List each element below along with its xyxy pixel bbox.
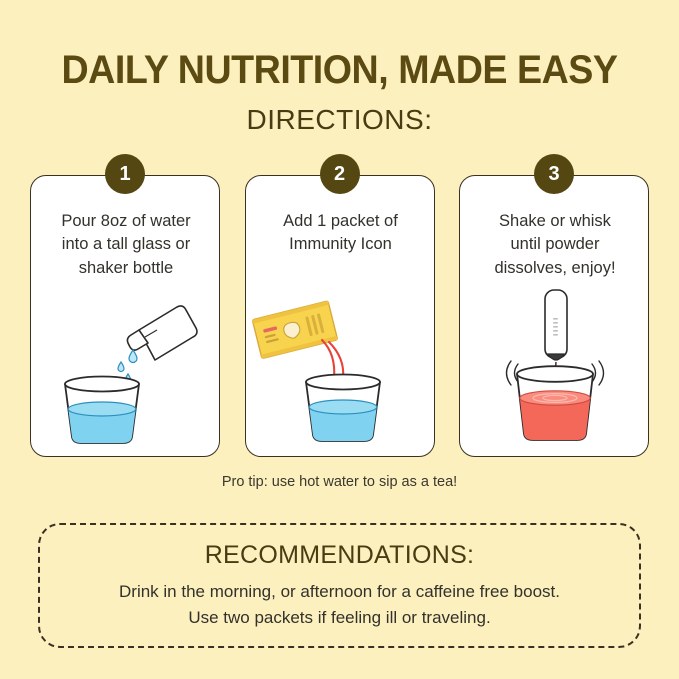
recommendation-line-1: Drink in the morning, or afternoon for a… xyxy=(40,579,639,605)
step-card-2: 2 Add 1 packet of Immunity Icon xyxy=(245,175,435,457)
illustration-bottle-pouring xyxy=(31,282,221,450)
page-title: DAILY NUTRITION, MADE EASY xyxy=(20,48,658,93)
step-number-badge-3: 3 xyxy=(534,154,574,194)
steps-container: 1 Pour 8oz of water into a tall glass or… xyxy=(30,175,649,457)
step-text-1: Pour 8oz of water into a tall glass or s… xyxy=(39,210,213,280)
step-card-3: 3 Shake or whisk until powder dissolves,… xyxy=(459,175,649,457)
pro-tip-text: Pro tip: use hot water to sip as a tea! xyxy=(0,474,679,490)
step-number-badge-1: 1 xyxy=(105,154,145,194)
recommendation-line-2: Use two packets if feeling ill or travel… xyxy=(40,605,639,631)
directions-subtitle: DIRECTIONS: xyxy=(0,104,679,136)
step-number-badge-2: 2 xyxy=(320,154,360,194)
step-text-2: Add 1 packet of Immunity Icon xyxy=(254,210,428,257)
recommendations-box: RECOMMENDATIONS: Drink in the morning, o… xyxy=(38,523,641,648)
illustration-packet-pouring xyxy=(246,282,436,450)
recommendations-title: RECOMMENDATIONS: xyxy=(40,541,639,570)
step-card-1: 1 Pour 8oz of water into a tall glass or… xyxy=(30,175,220,457)
infographic-page: DAILY NUTRITION, MADE EASY DIRECTIONS: 1… xyxy=(0,0,679,679)
step-text-3: Shake or whisk until powder dissolves, e… xyxy=(468,210,642,280)
recommendations-body: Drink in the morning, or afternoon for a… xyxy=(40,579,639,632)
illustration-frother-mixing xyxy=(460,282,650,450)
